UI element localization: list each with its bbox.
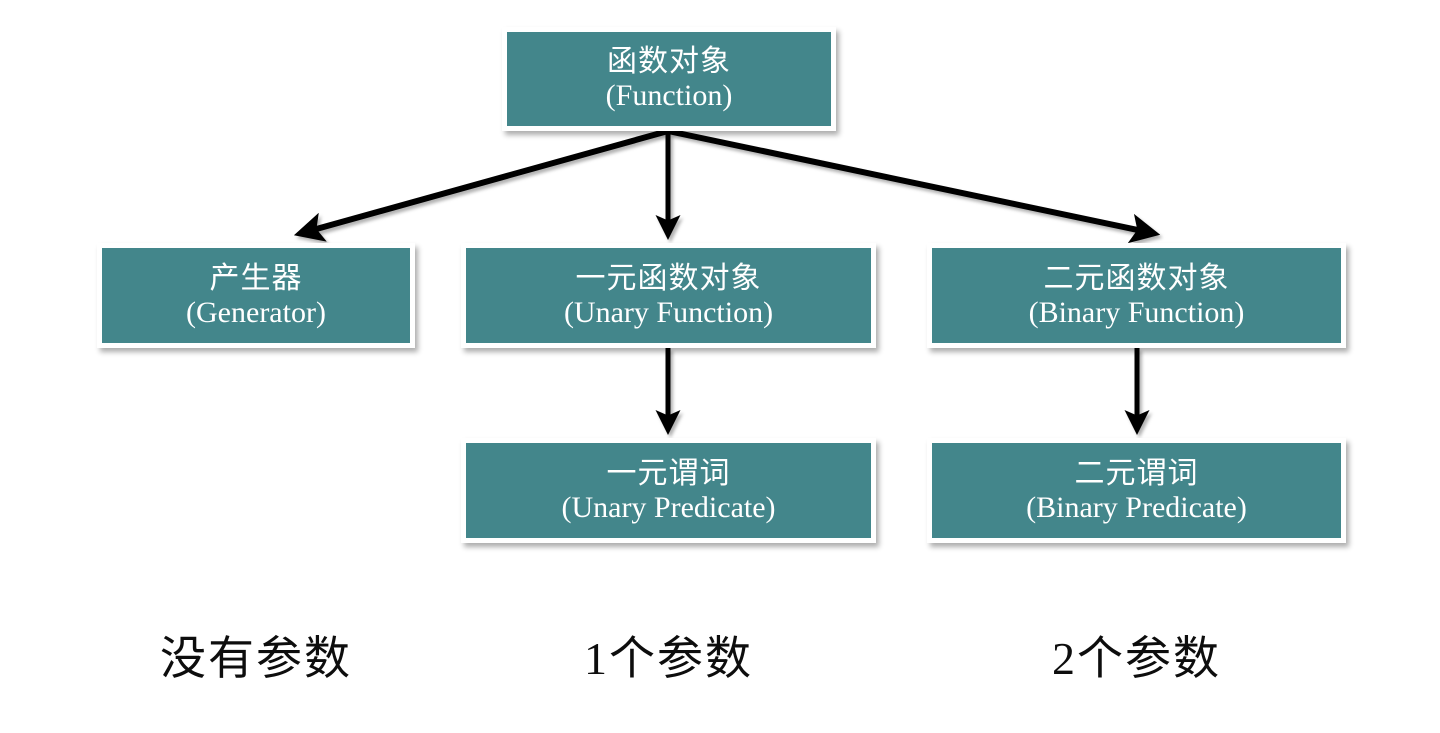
node-function-label-en: (Function) xyxy=(606,79,733,113)
caption-two-args: 2个参数 xyxy=(927,622,1346,688)
node-function-label-cn: 函数对象 xyxy=(607,45,731,79)
node-generator-label-en: (Generator) xyxy=(186,296,326,330)
node-generator-label-cn: 产生器 xyxy=(210,262,303,296)
caption-no-args: 没有参数 xyxy=(97,622,415,688)
node-unary-predicate-label-en: (Unary Predicate) xyxy=(561,491,775,525)
node-function[interactable]: 函数对象 (Function) xyxy=(502,27,836,131)
node-unary-predicate-label-cn: 一元谓词 xyxy=(607,457,731,491)
node-binary-predicate[interactable]: 二元谓词 (Binary Predicate) xyxy=(927,438,1346,543)
node-binary-function-label-cn: 二元函数对象 xyxy=(1044,262,1230,296)
node-unary-predicate[interactable]: 一元谓词 (Unary Predicate) xyxy=(461,438,876,543)
node-binary-function[interactable]: 二元函数对象 (Binary Function) xyxy=(927,243,1346,348)
node-unary-function[interactable]: 一元函数对象 (Unary Function) xyxy=(461,243,876,348)
connector-function-to-binary-function xyxy=(668,131,1152,233)
node-binary-function-label-en: (Binary Function) xyxy=(1029,296,1245,330)
node-unary-function-label-en: (Unary Function) xyxy=(564,296,773,330)
node-unary-function-label-cn: 一元函数对象 xyxy=(576,262,762,296)
caption-one-arg: 1个参数 xyxy=(461,622,876,688)
node-generator[interactable]: 产生器 (Generator) xyxy=(97,243,415,348)
node-binary-predicate-label-cn: 二元谓词 xyxy=(1075,457,1199,491)
connector-function-to-generator xyxy=(302,131,668,233)
diagram-canvas: 函数对象 (Function) 产生器 (Generator) 一元函数对象 (… xyxy=(0,0,1440,733)
node-binary-predicate-label-en: (Binary Predicate) xyxy=(1026,491,1247,525)
